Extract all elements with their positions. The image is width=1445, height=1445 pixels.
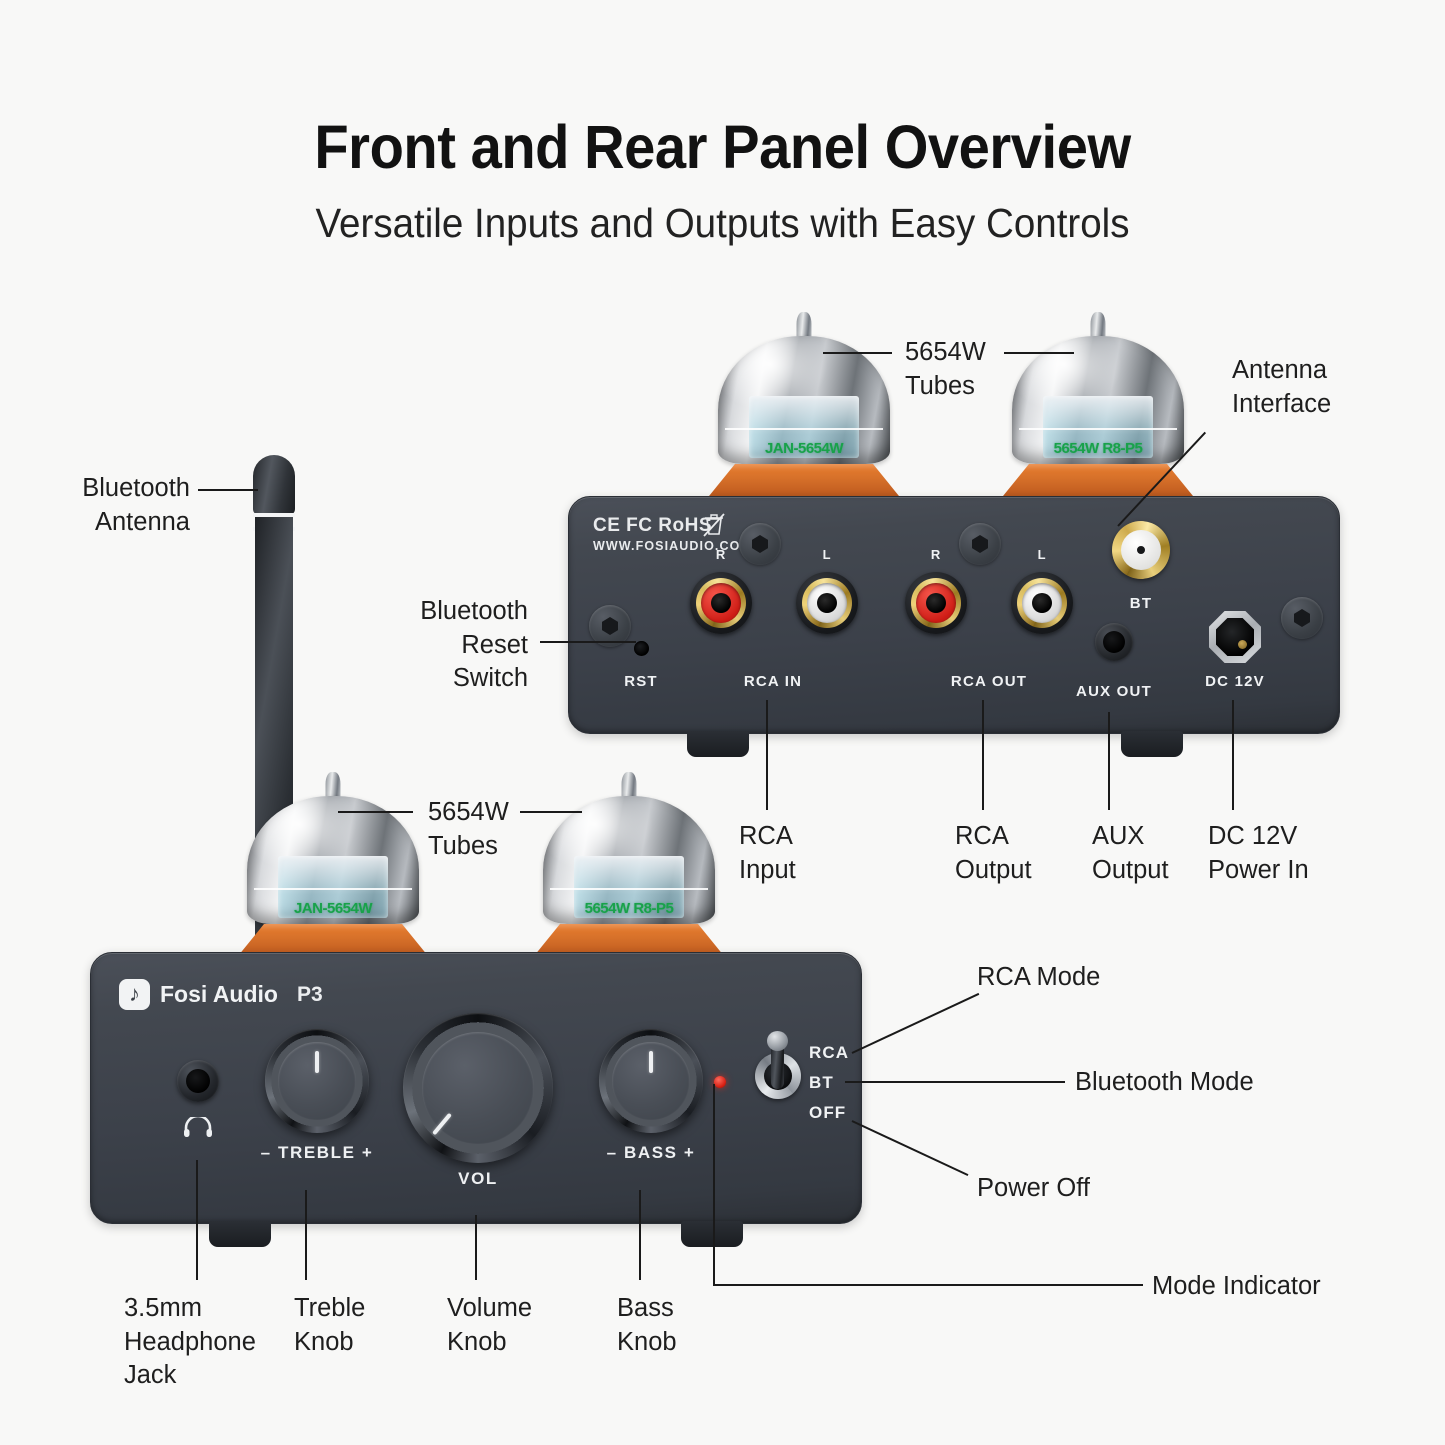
callout-bluetooth-antenna: Bluetooth Antenna (0, 472, 190, 539)
callout-tubes-rear: 5654W Tubes (905, 336, 1025, 403)
callout-power-off: Power Off (977, 1172, 1197, 1206)
antenna-interface-connector[interactable] (1112, 521, 1170, 579)
callout-dc-power-in: DC 12V Power In (1208, 820, 1388, 887)
bluetooth-reset-pinhole[interactable] (634, 641, 649, 656)
leader-bluetooth-reset (540, 641, 636, 643)
knob-indicator (315, 1051, 319, 1073)
rca-in-right-jack[interactable] (690, 572, 752, 634)
leader-mode-indicator-horizontal (713, 1284, 1143, 1286)
hex-screw (739, 523, 781, 565)
mode-rca-label: RCA (809, 1043, 849, 1063)
mode-toggle-switch[interactable] (755, 1031, 801, 1099)
dc-jack-pin (1238, 640, 1247, 649)
chassis-foot (1121, 731, 1183, 757)
treble-knob[interactable] (265, 1029, 369, 1133)
rca-out-right-channel-label: R (931, 547, 941, 562)
tube-print-label: JAN-5654W (254, 900, 412, 917)
leader-tubes-front-left (338, 811, 413, 813)
leader-treble-knob (305, 1190, 307, 1280)
callout-bass-knob: Bass Knob (617, 1292, 767, 1359)
callout-headphone-jack: 3.5mm Headphone Jack (124, 1292, 314, 1393)
leader-bluetooth-antenna (198, 489, 258, 491)
aux-output-jack[interactable] (1095, 623, 1133, 661)
leader-volume-knob (475, 1215, 477, 1280)
rca-jack-hole (817, 593, 837, 613)
dc-jack-inner (1216, 618, 1254, 656)
tube-print-label: JAN-5654W (725, 440, 883, 457)
leader-headphone-jack (196, 1160, 198, 1280)
weee-icon (703, 512, 725, 538)
bass-knob[interactable] (599, 1029, 703, 1133)
tube-print-label: 5654W R8-P5 (1019, 440, 1177, 457)
dc-12v-label: DC 12V (1205, 673, 1265, 690)
aux-jack-hole (1103, 631, 1125, 653)
callout-treble-knob: Treble Knob (294, 1292, 444, 1359)
bass-label: – BASS + (607, 1143, 696, 1163)
sma-pin (1137, 546, 1145, 554)
fosi-logo-icon: ♪ (119, 979, 150, 1010)
cert-text: CE FC RoHS (593, 515, 712, 536)
rca-out-left-channel-label: L (1038, 547, 1047, 562)
mode-indicator-led (714, 1076, 726, 1088)
certification-marks: CE FC RoHS WWW.FOSIAUDIO.COM (593, 515, 752, 553)
callout-bluetooth-reset-switch: Bluetooth Reset Switch (300, 595, 528, 696)
antenna-tip (253, 455, 295, 515)
hex-screw (1281, 597, 1323, 639)
chassis-foot (209, 1221, 271, 1247)
tube-wire (254, 888, 412, 890)
rca-jack-hole (926, 593, 946, 613)
volume-knob[interactable] (403, 1013, 553, 1163)
bt-label: BT (1130, 595, 1152, 612)
leader-bass-knob (639, 1190, 641, 1280)
website-text: WWW.FOSIAUDIO.COM (593, 539, 752, 553)
rca-jack-hole (711, 593, 731, 613)
headphone-jack[interactable] (177, 1060, 219, 1102)
chassis-foot (687, 731, 749, 757)
rca-in-left-jack[interactable] (796, 572, 858, 634)
hex-screw (959, 523, 1001, 565)
tube-front-left: JAN-5654W (247, 772, 419, 964)
infographic-canvas: Front and Rear Panel Overview Versatile … (0, 0, 1445, 1445)
callout-tubes-front: 5654W Tubes (428, 796, 548, 863)
callout-bluetooth-mode: Bluetooth Mode (1075, 1066, 1375, 1100)
leader-bluetooth-mode (845, 1081, 1065, 1083)
tube-front-right: 5654W R8-P5 (543, 772, 715, 964)
tube-rear-left: JAN-5654W (718, 312, 890, 504)
rca-in-left-channel-label: L (823, 547, 832, 562)
rst-label: RST (624, 673, 658, 690)
page-subtitle: Versatile Inputs and Outputs with Easy C… (43, 200, 1401, 247)
headphone-jack-hole (186, 1069, 210, 1093)
leader-rca-input (766, 700, 768, 810)
rca-out-right-jack[interactable] (905, 572, 967, 634)
treble-label: – TREBLE + (261, 1143, 374, 1163)
leader-tubes-rear-left (823, 352, 892, 354)
tube-print-label: 5654W R8-P5 (550, 900, 708, 917)
mode-bt-label: BT (809, 1073, 834, 1093)
callout-rca-mode: RCA Mode (977, 961, 1197, 995)
mode-off-label: OFF (809, 1103, 846, 1123)
callout-antenna-interface: Antenna Interface (1232, 354, 1412, 421)
dc-power-jack[interactable] (1209, 611, 1261, 663)
rca-out-left-jack[interactable] (1011, 572, 1073, 634)
logo-note-glyph: ♪ (129, 983, 140, 1005)
callout-mode-indicator: Mode Indicator (1152, 1270, 1432, 1304)
front-panel-chassis: ♪ Fosi Audio P3 – TREBLE + VOL (90, 952, 862, 1224)
toggle-ball (767, 1031, 788, 1051)
rca-in-label: RCA IN (744, 673, 802, 690)
leader-dc-power (1232, 700, 1234, 810)
tube-wire (550, 888, 708, 890)
tube-wire (1019, 428, 1177, 430)
page-title: Front and Rear Panel Overview (58, 112, 1387, 182)
leader-rca-mode (852, 993, 980, 1054)
leader-rca-output (982, 700, 984, 810)
leader-mode-indicator-vertical (713, 1084, 715, 1284)
rca-out-label: RCA OUT (951, 673, 1027, 690)
volume-label: VOL (458, 1169, 498, 1189)
callout-rca-output: RCA Output (955, 820, 1095, 887)
knob-indicator (649, 1051, 653, 1073)
leader-aux-output (1108, 712, 1110, 810)
rear-panel-chassis: CE FC RoHS WWW.FOSIAUDIO.COM RST R L RC (568, 496, 1340, 734)
tube-wire (725, 428, 883, 430)
headphone-icon (182, 1117, 214, 1137)
leader-power-off (852, 1120, 969, 1176)
rca-jack-hole (1032, 593, 1052, 613)
model-name: P3 (297, 983, 323, 1007)
callout-rca-input: RCA Input (739, 820, 869, 887)
brand-name: Fosi Audio (160, 981, 278, 1008)
brand-lockup: ♪ Fosi Audio P3 (119, 979, 323, 1010)
rca-in-right-channel-label: R (716, 547, 726, 562)
tube-rear-right: 5654W R8-P5 (1012, 312, 1184, 504)
chassis-foot (681, 1221, 743, 1247)
aux-out-label: AUX OUT (1076, 683, 1152, 700)
callout-volume-knob: Volume Knob (447, 1292, 607, 1359)
